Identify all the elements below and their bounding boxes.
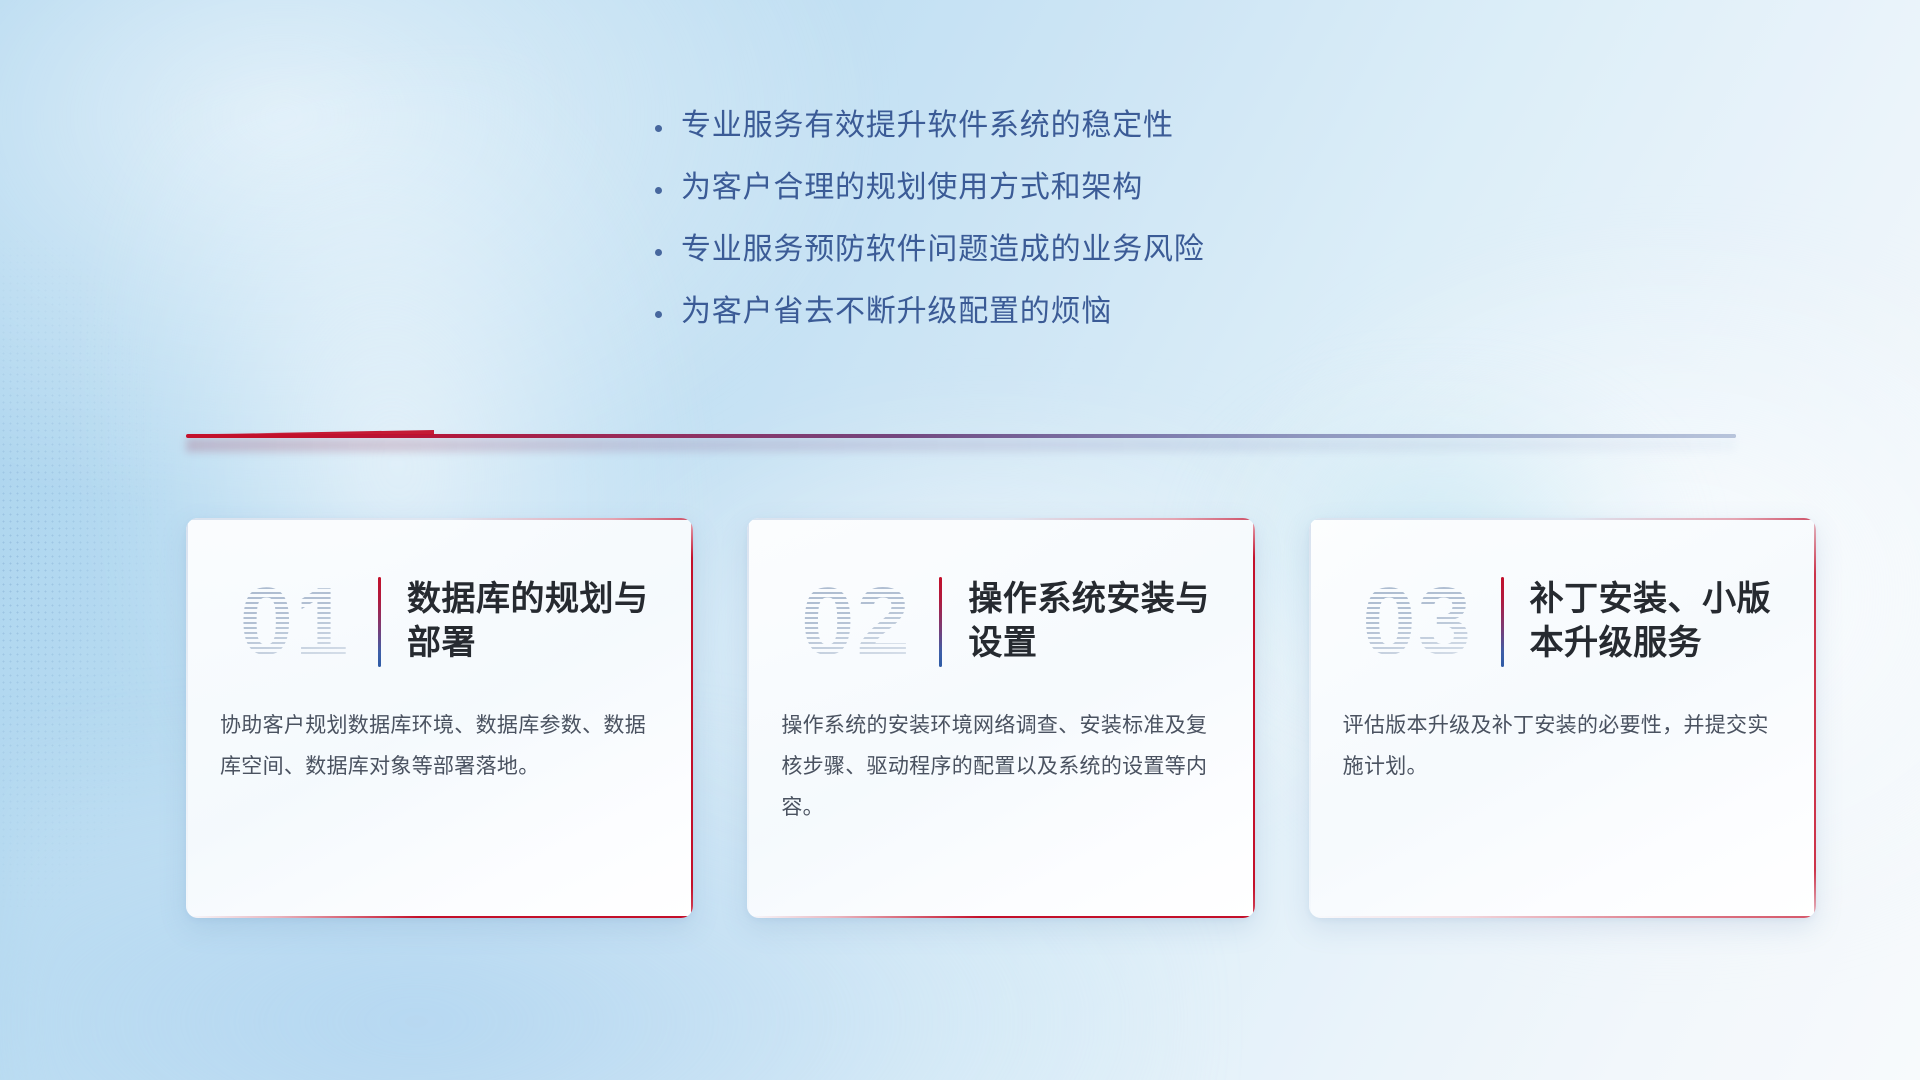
card-border-left bbox=[747, 518, 749, 918]
card-border-left bbox=[1309, 518, 1311, 918]
card-border-left bbox=[186, 518, 188, 918]
card-divider-bar bbox=[378, 577, 381, 667]
card-border-right bbox=[1253, 518, 1255, 918]
card-body-text: 协助客户规划数据库环境、数据库参数、数据库空间、数据库对象等部署落地。 bbox=[220, 706, 659, 788]
card-border-top bbox=[747, 518, 1254, 520]
card-divider-bar bbox=[1501, 577, 1504, 667]
list-item: 专业服务预防软件问题造成的业务风险 bbox=[655, 232, 1415, 268]
card-body-text: 操作系统的安装环境网络调查、安装标准及复核步骤、驱动程序的配置以及系统的设置等内… bbox=[781, 706, 1220, 829]
card-border-top bbox=[1309, 518, 1816, 520]
card-border-bottom bbox=[747, 916, 1254, 918]
service-card-01[interactable]: 01 数据库的规划与部署 协助客户规划数据库环境、数据库参数、数据库空间、数据库… bbox=[186, 518, 693, 918]
bullet-dot-icon bbox=[655, 311, 681, 318]
list-item: 专业服务有效提升软件系统的稳定性 bbox=[655, 108, 1415, 144]
card-border-bottom bbox=[1309, 916, 1816, 918]
bullet-text: 为客户省去不断升级配置的烦恼 bbox=[681, 294, 1112, 330]
section-divider bbox=[186, 426, 1736, 452]
card-divider-bar bbox=[939, 577, 942, 667]
card-border-right bbox=[691, 518, 693, 918]
list-item: 为客户省去不断升级配置的烦恼 bbox=[655, 294, 1415, 330]
card-title: 数据库的规划与部署 bbox=[407, 578, 659, 665]
card-header: 01 数据库的规划与部署 bbox=[220, 556, 659, 688]
service-card-03[interactable]: 03 补丁安装、小版本升级服务 评估版本升级及补丁安装的必要性，并提交实施计划。 bbox=[1309, 518, 1816, 918]
divider-taper bbox=[186, 430, 434, 435]
bullet-text: 为客户合理的规划使用方式和架构 bbox=[681, 170, 1143, 206]
service-card-02[interactable]: 02 操作系统安装与设置 操作系统的安装环境网络调查、安装标准及复核步骤、驱动程… bbox=[747, 518, 1254, 918]
card-title: 补丁安装、小版本升级服务 bbox=[1530, 578, 1782, 665]
service-card-list: 01 数据库的规划与部署 协助客户规划数据库环境、数据库参数、数据库空间、数据库… bbox=[186, 518, 1816, 918]
card-border-top bbox=[186, 518, 693, 520]
card-number: 02 bbox=[781, 567, 931, 677]
bullet-text: 专业服务有效提升软件系统的稳定性 bbox=[681, 108, 1174, 144]
card-border-right bbox=[1814, 518, 1816, 918]
card-header: 03 补丁安装、小版本升级服务 bbox=[1343, 556, 1782, 688]
card-number: 03 bbox=[1343, 567, 1493, 677]
background-dot-pattern bbox=[0, 238, 173, 908]
card-title: 操作系统安装与设置 bbox=[968, 578, 1220, 665]
card-border-bottom bbox=[186, 916, 693, 918]
bullet-dot-icon bbox=[655, 187, 681, 194]
card-header: 02 操作系统安装与设置 bbox=[781, 556, 1220, 688]
divider-glow bbox=[186, 438, 1736, 452]
list-item: 为客户合理的规划使用方式和架构 bbox=[655, 170, 1415, 206]
benefits-bullet-list: 专业服务有效提升软件系统的稳定性 为客户合理的规划使用方式和架构 专业服务预防软… bbox=[655, 108, 1415, 356]
card-body-text: 评估版本升级及补丁安装的必要性，并提交实施计划。 bbox=[1343, 706, 1782, 788]
bullet-text: 专业服务预防软件问题造成的业务风险 bbox=[681, 232, 1205, 268]
bullet-dot-icon bbox=[655, 125, 681, 132]
card-number: 01 bbox=[220, 567, 370, 677]
bullet-dot-icon bbox=[655, 249, 681, 256]
